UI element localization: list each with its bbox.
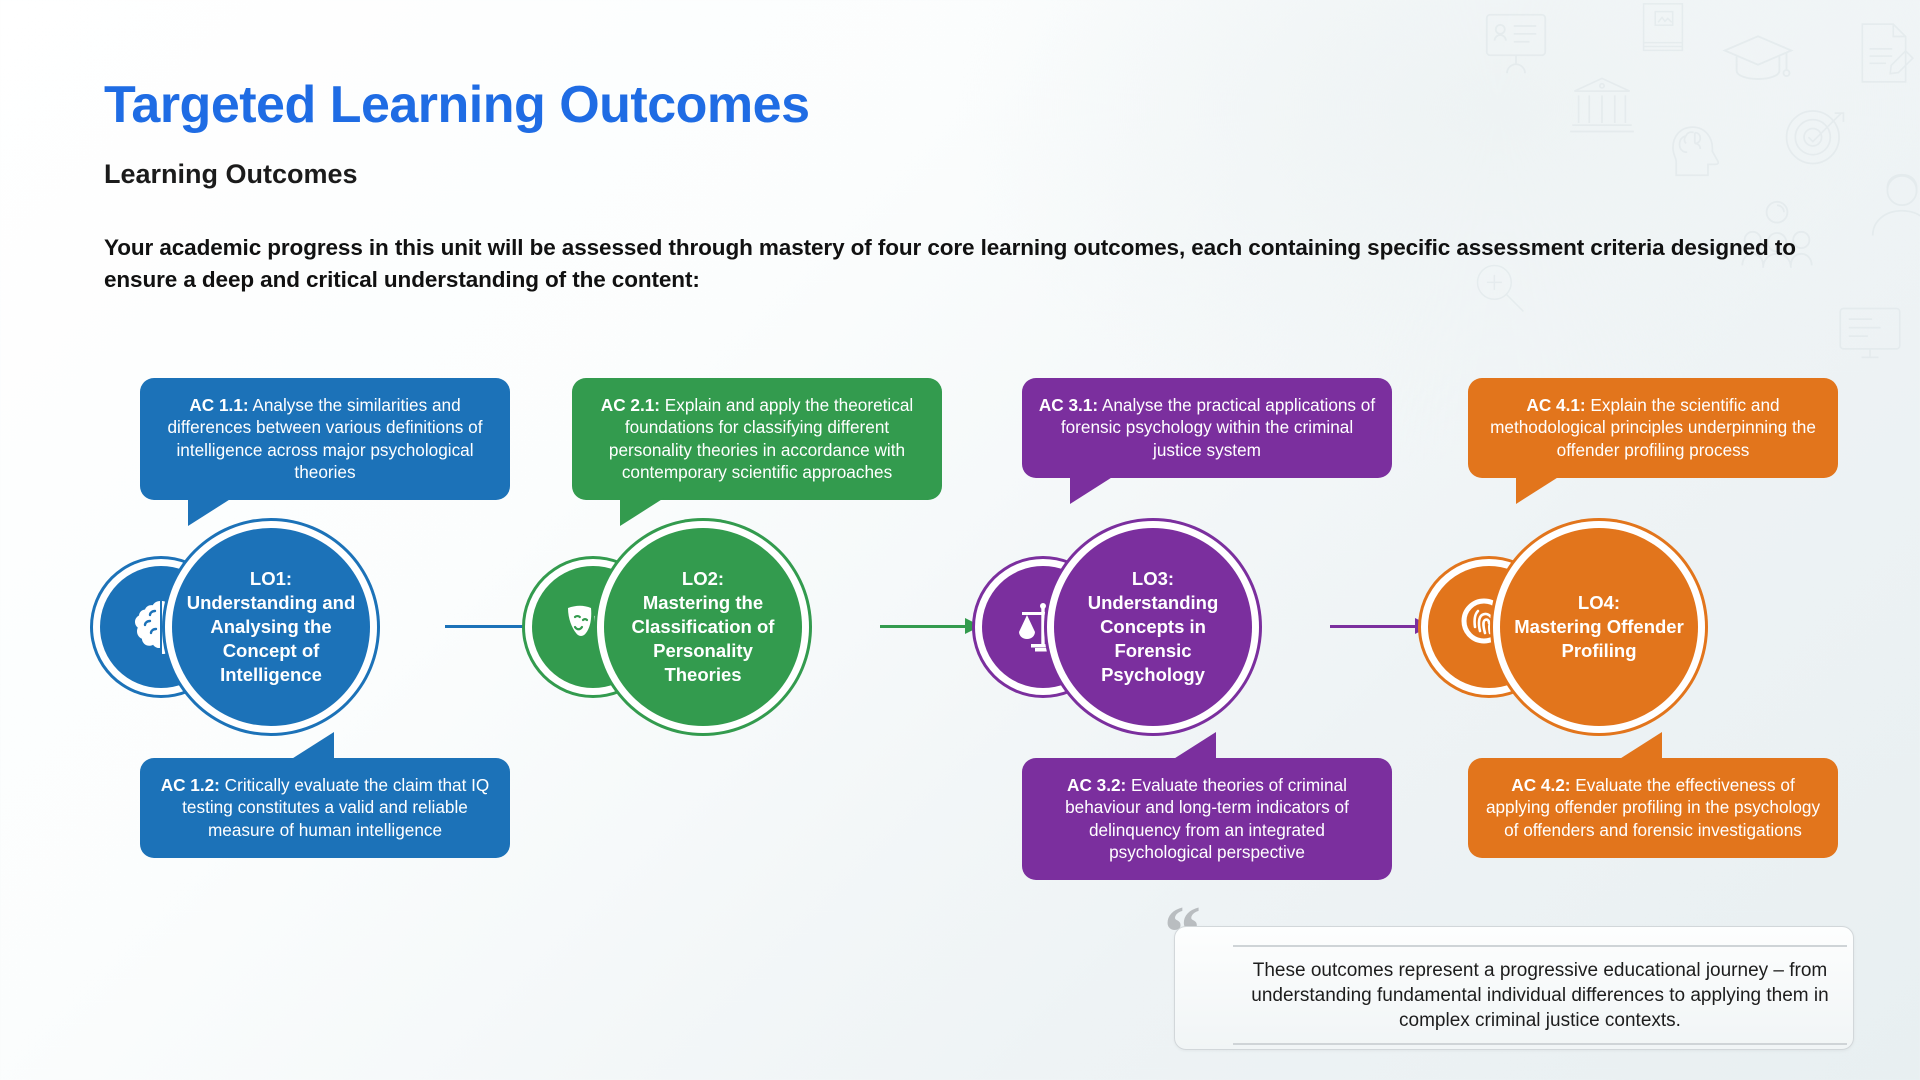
lo-id: LO4: [1514,591,1684,615]
quote-text: These outcomes represent a progressive e… [1233,945,1847,1045]
ac-text: Analyse the practical applications of fo… [1061,395,1375,460]
outcome-column-lo2: AC 2.1: Explain and apply the theoretica… [572,378,1002,918]
callout-ac-1-2[interactable]: AC 1.2: Critically evaluate the claim th… [140,758,510,858]
page-title: Targeted Learning Outcomes [104,78,1864,133]
lo-title: Understanding and Analysing the Concept … [187,592,356,685]
callout-tail [188,498,232,526]
ac-text: Critically evaluate the claim that IQ te… [182,775,489,840]
callout-tail [1618,732,1662,760]
node-lo1: LO1:Understanding and Analysing the Conc… [100,528,530,763]
arrow-lo3-to-lo4 [1330,625,1430,628]
callout-tail [1070,476,1114,504]
callout-tail [620,498,664,526]
ac-code: AC 1.2: [161,775,220,795]
lo-id: LO3: [1068,567,1238,591]
callout-tail [1516,476,1560,504]
callout-ac-4-1[interactable]: AC 4.1: Explain the scientific and metho… [1468,378,1838,478]
monitor-icon [1836,300,1904,368]
arrow-lo1-to-lo2 [445,625,545,628]
lo-id: LO2: [618,567,788,591]
lo-title: Mastering Offender Profiling [1514,616,1684,661]
node-lo3: LO3:Understanding Concepts in Forensic P… [982,528,1412,763]
outcome-column-lo3: AC 3.1: Analyse the practical applicatio… [1022,378,1452,918]
ac-code: AC 2.1: [601,395,660,415]
outcome-column-lo1: AC 1.1: Analyse the similarities and dif… [140,378,570,918]
document-pen-icon [1852,20,1918,86]
outcome-column-lo4: AC 4.1: Explain the scientific and metho… [1468,378,1898,918]
ac-code: AC 1.1: [189,395,248,415]
lo2-label-circle[interactable]: LO2:Mastering the Classification of Pers… [604,528,802,726]
person-icon [1866,168,1920,240]
callout-ac-3-2[interactable]: AC 3.2: Evaluate theories of criminal be… [1022,758,1392,880]
arrow-lo2-to-lo3 [880,625,980,628]
lo4-label-circle[interactable]: LO4:Mastering Offender Profiling [1500,528,1698,726]
ac-code: AC 4.2: [1511,775,1570,795]
callout-ac-3-1[interactable]: AC 3.1: Analyse the practical applicatio… [1022,378,1392,478]
callout-ac-4-2[interactable]: AC 4.2: Evaluate the effectiveness of ap… [1468,758,1838,858]
callout-tail [290,732,334,760]
presentation-board-icon [1480,8,1552,80]
learning-outcomes-flow-diagram: AC 1.1: Analyse the similarities and dif… [0,378,1920,918]
lo-title: Understanding Concepts in Forensic Psych… [1088,592,1219,685]
section-subtitle: Learning Outcomes [104,159,1864,190]
node-lo4: LO4:Mastering Offender Profiling [1428,528,1858,763]
summary-quote: “ These outcomes represent a progressive… [1164,912,1854,1052]
header: Targeted Learning Outcomes Learning Outc… [104,78,1864,295]
lo-title: Mastering the Classification of Personal… [632,592,775,685]
lo-id: LO1: [186,567,356,591]
lo3-label-circle[interactable]: LO3:Understanding Concepts in Forensic P… [1054,528,1252,726]
callout-ac-1-1[interactable]: AC 1.1: Analyse the similarities and dif… [140,378,510,500]
node-lo2: LO2:Mastering the Classification of Pers… [532,528,962,763]
book-icon [1632,0,1694,62]
intro-paragraph: Your academic progress in this unit will… [104,232,1804,296]
ac-code: AC 3.2: [1067,775,1126,795]
ac-code: AC 4.1: [1526,395,1585,415]
ac-code: AC 3.1: [1039,395,1098,415]
callout-tail [1172,732,1216,760]
lo1-label-circle[interactable]: LO1:Understanding and Analysing the Conc… [172,528,370,726]
callout-ac-2-1[interactable]: AC 2.1: Explain and apply the theoretica… [572,378,942,500]
arrow-head [965,618,981,634]
quote-box: These outcomes represent a progressive e… [1174,926,1854,1050]
